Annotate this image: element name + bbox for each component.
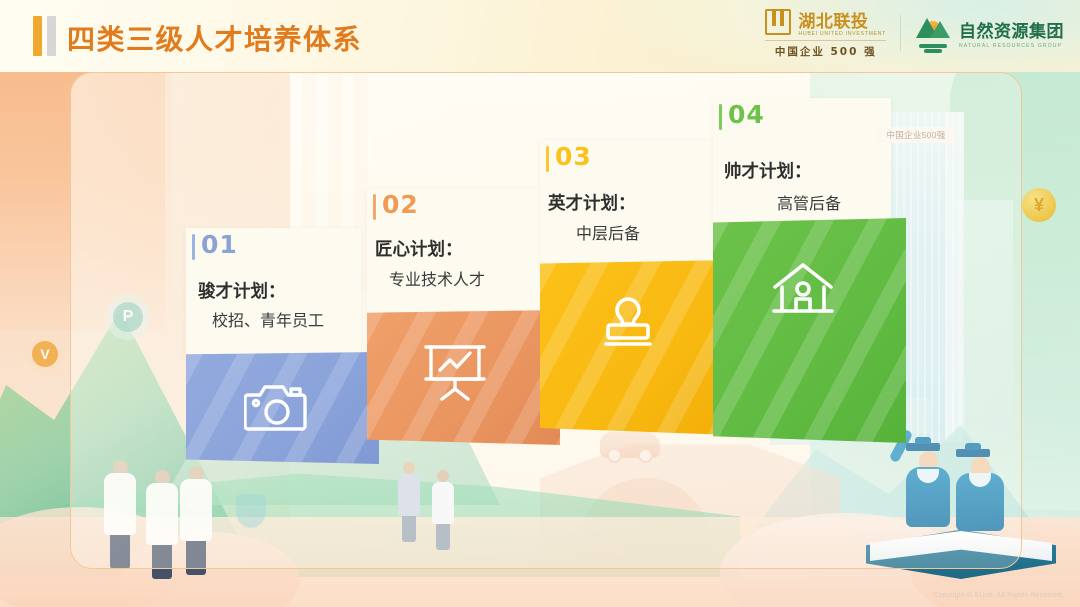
step-03-number-bar bbox=[546, 146, 549, 172]
step-01-number-bar bbox=[192, 234, 195, 260]
step-03-title: 英才计划： bbox=[548, 190, 636, 215]
camera-icon bbox=[244, 378, 310, 436]
step-01-number: 01 bbox=[201, 230, 238, 259]
step-02-number: 02 bbox=[382, 190, 419, 219]
step-04-number: 04 bbox=[728, 100, 765, 129]
step-02-subtitle: 专业技术人才 bbox=[389, 266, 485, 290]
step-04-subtitle: 高管后备 bbox=[777, 190, 841, 214]
skyscraper-sign-label: 中国企业500强 bbox=[877, 127, 955, 143]
step-04-number-bar bbox=[719, 104, 722, 130]
step-03-subtitle: 中层后备 bbox=[576, 220, 640, 244]
step-01-subtitle: 校招、青年员工 bbox=[212, 307, 324, 331]
step-01-title: 骏才计划： bbox=[198, 278, 286, 303]
step-04-bar[interactable] bbox=[713, 218, 906, 443]
step-03-number: 03 bbox=[555, 142, 592, 171]
staircase-diagram: 01 骏才计划： 校招、青年员工 02 匠心计划： 专业技术人才 bbox=[0, 0, 1080, 607]
step-02-number-bar bbox=[373, 194, 376, 220]
step-04-title: 帅才计划： bbox=[724, 158, 812, 183]
step-02-title: 匠心计划： bbox=[375, 236, 463, 261]
stamp-icon bbox=[597, 294, 659, 356]
slide-root: 中国企业500强 ¥ 聚矿兴产 矿化一体 P V bbox=[0, 0, 1080, 607]
presentation-chart-icon bbox=[422, 338, 488, 402]
house-icon bbox=[770, 260, 836, 320]
